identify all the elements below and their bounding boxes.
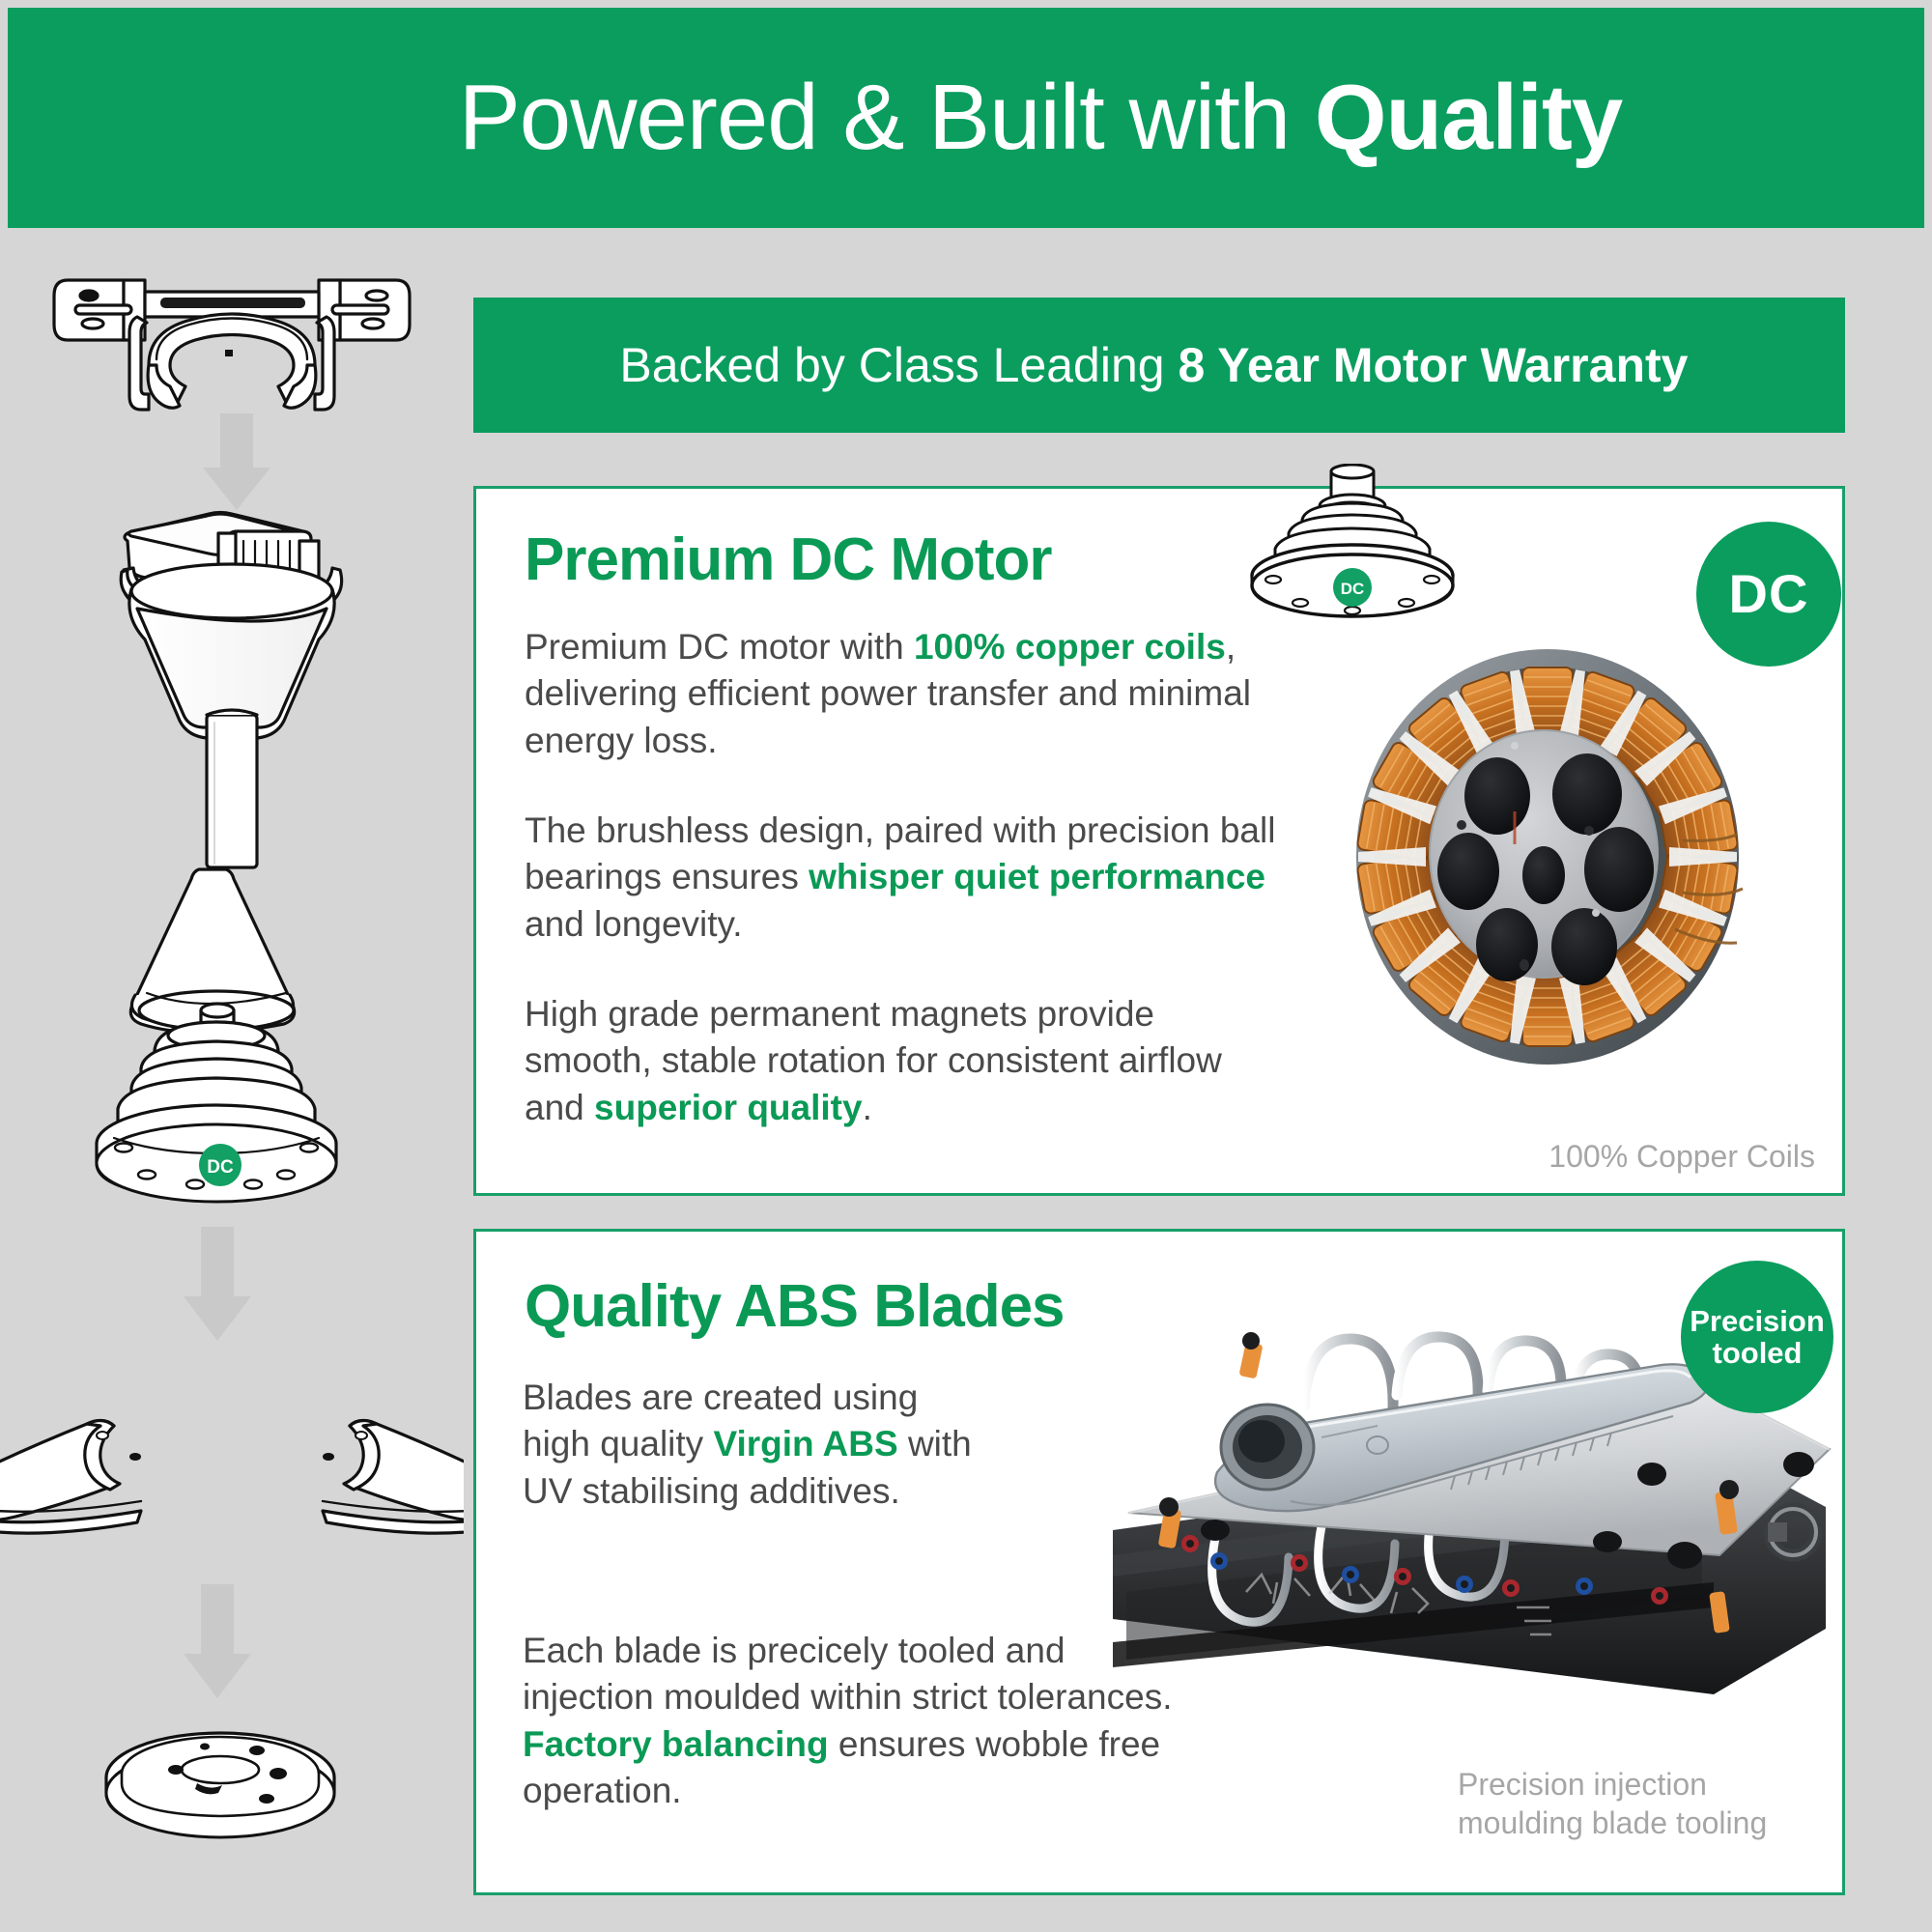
header-banner: Powered & Built with Quality — [8, 8, 1924, 228]
blades-photo-caption: Precision injection moulding blade tooli… — [1458, 1765, 1805, 1842]
page-title-plain: Powered & Built with — [459, 66, 1315, 169]
diagram-dc-badge: DC — [199, 1144, 241, 1186]
copper-coil-stator-photo — [1343, 639, 1768, 1074]
blades-card-title: Quality ABS Blades — [525, 1272, 1065, 1341]
motor-card-title: Premium DC Motor — [525, 526, 1051, 594]
motor-paragraph-2: The brushless design, paired with precis… — [525, 808, 1278, 948]
warranty-text-bold: 8 Year Motor Warranty — [1178, 338, 1688, 392]
precision-badge-line2: tooled — [1690, 1337, 1825, 1369]
page-title: Powered & Built with Quality — [310, 0, 1623, 257]
exploded-fan-diagram: DC — [0, 251, 464, 1913]
warranty-text: Backed by Class Leading 8 Year Motor War… — [539, 281, 1688, 449]
blades-p2-highlight: Factory balancing — [523, 1724, 829, 1764]
part-bottom-cover — [106, 1733, 334, 1837]
diagram-dc-badge-label: DC — [207, 1157, 234, 1178]
motor-paragraph-3: High grade permanent magnets provide smo… — [525, 991, 1278, 1131]
precision-badge-line1: Precision — [1690, 1305, 1825, 1337]
part-mounting-bracket — [54, 280, 410, 410]
part-fan-blades — [0, 1420, 464, 1533]
warranty-banner: Backed by Class Leading 8 Year Motor War… — [473, 298, 1845, 433]
motor-p1-highlight: 100% copper coils — [914, 627, 1226, 667]
precision-tooled-badge: Precision tooled — [1681, 1261, 1833, 1413]
motor-p3-highlight: superior quality — [594, 1088, 863, 1127]
page-title-bold: Quality — [1315, 66, 1622, 169]
motor-photo-caption: 100% Copper Coils — [1548, 1137, 1815, 1176]
blades-p2-a: Each blade is precicely tooled and injec… — [523, 1631, 1173, 1717]
warranty-text-plain: Backed by Class Leading — [619, 338, 1178, 392]
motor-p3-c: . — [863, 1088, 872, 1127]
motor-paragraph-1: Premium DC motor with 100% copper coils,… — [525, 624, 1278, 764]
blades-paragraph-2: Each blade is precicely tooled and injec… — [523, 1628, 1179, 1815]
assembly-arrow-1 — [203, 413, 270, 510]
motor-icon-dc-label: DC — [1341, 580, 1365, 598]
motor-p2-c: and longevity. — [525, 904, 743, 944]
part-canopy-assembly — [121, 513, 341, 868]
dc-badge: DC — [1696, 522, 1841, 667]
motor-p1-a: Premium DC motor with — [525, 627, 914, 667]
motor-line-art-icon: DC — [1236, 464, 1468, 618]
blades-paragraph-1: Blades are created using high quality Vi… — [523, 1375, 977, 1515]
infographic-page: Powered & Built with Quality — [0, 0, 1932, 1932]
assembly-arrow-2 — [184, 1227, 251, 1341]
dc-badge-label: DC — [1729, 565, 1809, 623]
motor-p2-highlight: whisper quiet performance — [809, 857, 1265, 896]
exploded-diagram-svg: DC — [0, 251, 464, 1913]
assembly-arrow-3 — [184, 1584, 251, 1698]
blades-p1-highlight: Virgin ABS — [713, 1424, 897, 1463]
